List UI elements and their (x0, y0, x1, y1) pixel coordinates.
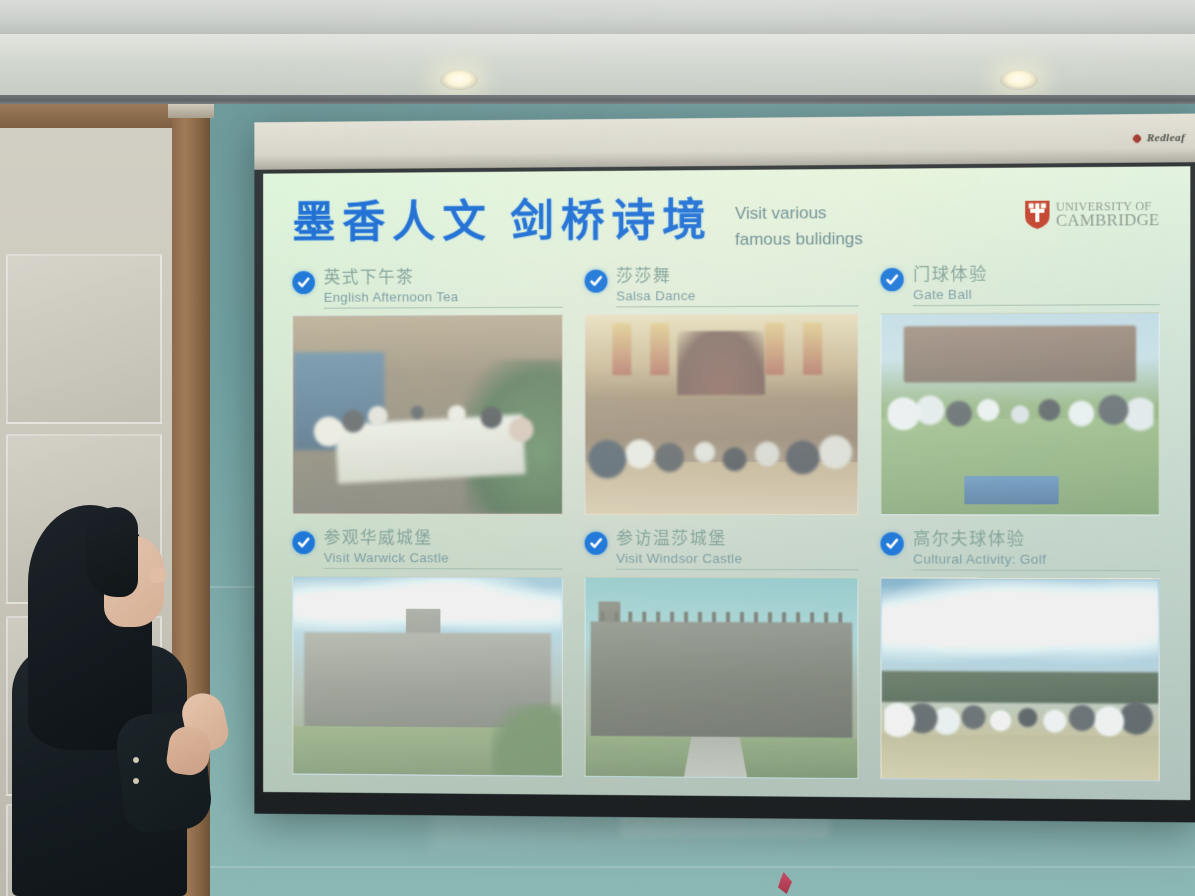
check-circle-icon (881, 268, 904, 291)
activity-labels: 莎莎舞 Salsa Dance (616, 265, 859, 307)
activity-cell[interactable]: 参观华威城堡 Visit Warwick Castle (292, 528, 562, 776)
activity-labels: 门球体验 Gate Ball (913, 264, 1160, 307)
activity-cell[interactable]: 高尔夫球体验 Cultural Activity: Golf (881, 529, 1160, 781)
presentation-slide: 墨香人文 剑桥诗境 Visit various famous bulidings (263, 166, 1190, 800)
presenter (8, 495, 238, 896)
ceiling-trim (0, 95, 1195, 104)
activity-labels: 高尔夫球体验 Cultural Activity: Golf (913, 529, 1160, 571)
activity-header: 参观华威城堡 Visit Warwick Castle (292, 528, 562, 570)
cambridge-logo: UNIVERSITY OF CAMBRIDGE (1024, 199, 1159, 230)
red-leaf-icon (1132, 134, 1141, 143)
check-circle-icon (292, 531, 314, 554)
activity-cell[interactable]: 莎莎舞 Salsa Dance (584, 265, 858, 515)
screen-surface: 墨香人文 剑桥诗境 Visit various famous bulidings (263, 166, 1190, 800)
presenter-button (133, 778, 139, 784)
activity-label-en: Gate Ball (913, 286, 1160, 302)
screen-bezel: Redleaf (254, 114, 1195, 170)
projector-screen[interactable]: Redleaf 墨香人文 剑桥诗境 Visit various famous b… (254, 114, 1195, 823)
lecture-room-scene: Redleaf 墨香人文 剑桥诗境 Visit various famous b… (0, 0, 1195, 896)
presenter-profile-nose (150, 567, 166, 583)
slide-header: 墨香人文 剑桥诗境 Visit various famous bulidings (292, 193, 1159, 255)
activity-cell[interactable]: 门球体验 Gate Ball (881, 264, 1160, 516)
ceiling-upper (0, 0, 1195, 34)
activity-label-cn: 英式下午茶 (324, 267, 563, 289)
activities-grid: 英式下午茶 English Afternoon Tea (292, 264, 1159, 782)
presenter-hair-front (86, 507, 138, 597)
activity-label-cn: 参观华威城堡 (324, 528, 563, 550)
gate-ball-lawn-group-photo (881, 312, 1160, 515)
activity-header: 高尔夫球体验 Cultural Activity: Golf (881, 529, 1160, 571)
presenter-button (133, 757, 139, 763)
activity-labels: 参访温莎城堡 Visit Windsor Castle (616, 529, 859, 571)
activity-label-en: Visit Warwick Castle (324, 550, 563, 565)
cambridge-crest-icon (1024, 200, 1050, 230)
activity-label-cn: 门球体验 (913, 264, 1160, 287)
check-circle-icon (292, 271, 314, 294)
activity-labels: 英式下午茶 English Afternoon Tea (324, 267, 563, 309)
wall-seam-lower (200, 866, 1195, 868)
slide-subtitle: Visit various famous bulidings (735, 200, 863, 252)
activity-underline (324, 568, 563, 570)
activity-underline (913, 570, 1160, 572)
warwick-castle-photo (292, 576, 562, 777)
activity-underline (616, 306, 859, 308)
check-circle-icon (881, 532, 904, 555)
activity-label-cn: 参访温莎城堡 (616, 529, 859, 551)
activity-cell[interactable]: 参访温莎城堡 Visit Windsor Castle (584, 529, 858, 779)
activity-underline (324, 307, 563, 309)
activity-label-en: Visit Windsor Castle (616, 551, 859, 567)
windsor-castle-chapel-photo (584, 577, 858, 779)
golf-group-photo (881, 578, 1160, 782)
cambridge-logo-line2: CAMBRIDGE (1056, 212, 1160, 229)
screen-brand-label: Redleaf (1147, 132, 1185, 144)
activity-cell[interactable]: 英式下午茶 English Afternoon Tea (292, 267, 562, 515)
salsa-dance-hall-photo (584, 314, 858, 515)
activity-header: 英式下午茶 English Afternoon Tea (292, 267, 562, 309)
activity-label-cn: 高尔夫球体验 (913, 529, 1160, 551)
activity-underline (616, 569, 859, 571)
check-circle-icon (584, 270, 607, 293)
wall-panel (6, 254, 162, 424)
slide-title: 墨香人文 剑桥诗境 (292, 196, 713, 248)
cambridge-logo-text: UNIVERSITY OF CAMBRIDGE (1056, 200, 1160, 229)
activity-label-cn: 莎莎舞 (616, 265, 859, 287)
activity-header: 门球体验 Gate Ball (881, 264, 1160, 307)
activity-label-en: Salsa Dance (616, 288, 859, 304)
ceiling-downlight-right (1000, 70, 1038, 90)
check-circle-icon (584, 532, 607, 555)
activity-underline (913, 304, 1160, 306)
afternoon-tea-group-photo (292, 315, 562, 515)
activity-labels: 参观华威城堡 Visit Warwick Castle (324, 528, 563, 569)
ceiling-downlight-left (440, 70, 478, 90)
activity-header: 参访温莎城堡 Visit Windsor Castle (584, 529, 858, 571)
activity-header: 莎莎舞 Salsa Dance (584, 265, 858, 308)
activity-label-en: English Afternoon Tea (324, 289, 563, 305)
wood-column-cap (168, 104, 214, 118)
activity-label-en: Cultural Activity: Golf (913, 552, 1160, 568)
